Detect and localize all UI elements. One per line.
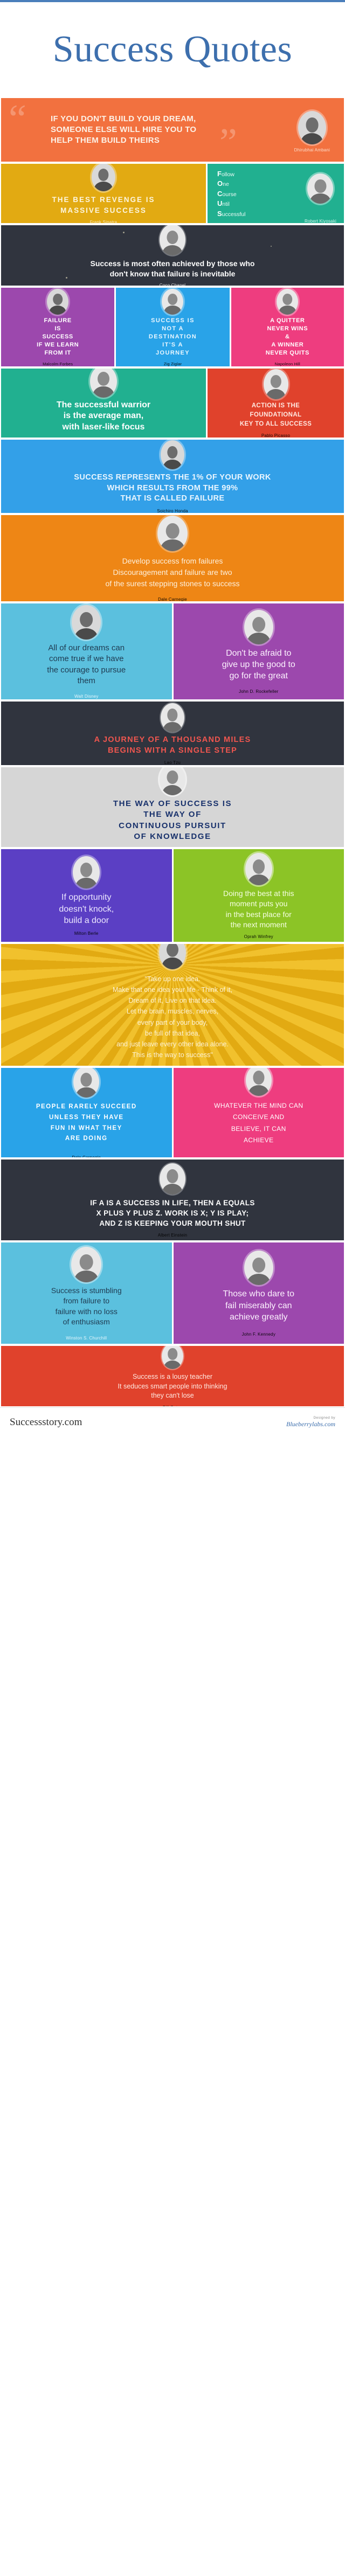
agency-name[interactable]: Blueberrylabs.com: [286, 1420, 335, 1428]
quote-text: The successful warrior is the average ma…: [57, 400, 150, 433]
quote-card-kennedy: Those who dare to fail miserably can ach…: [174, 1242, 344, 1344]
portrait-avatar-chanel: [160, 225, 185, 255]
portrait-avatar-napoleon-hill: [160, 767, 185, 795]
portrait-avatar-kennedy: [244, 1251, 273, 1285]
quote-author: Frank Sinatra: [90, 220, 118, 223]
quote-author: Albert Einstein: [158, 1233, 188, 1238]
acrostic-initial: S: [217, 210, 222, 218]
portrait-avatar-honda: [161, 440, 184, 469]
quote-text: PEOPLE RARELY SUCCEED UNLESS THEY HAVE F…: [36, 1102, 137, 1144]
quote-card-gates: Success is a lousy teacher It seduces sm…: [1, 1346, 344, 1406]
portrait-avatar-disney: [72, 605, 101, 640]
quote-author: Dale Carnegie: [158, 597, 187, 601]
quote-band-napoleon-knowledge: THE WAY OF SUCCESS IS THE WAY OF CONTINU…: [0, 766, 345, 848]
quote-text: Success is most often achieved by those …: [91, 259, 255, 278]
quote-text: Doing the best at this moment puts you i…: [223, 888, 294, 929]
portrait-avatar-berle: [73, 856, 100, 888]
quote-band-vivekananda: "Take up one idea. Make that one idea yo…: [0, 943, 345, 1067]
portrait-avatar-napoleon-hill: [246, 1068, 272, 1096]
quote-author: Malcolm Forbes: [43, 362, 73, 366]
quote-author: Napoleon Hill: [245, 1157, 272, 1157]
quote-band-berle-oprah: If opportunity doesn't knock, build a do…: [0, 848, 345, 943]
page-title: Success Quotes: [53, 31, 292, 68]
portrait-avatar-napoleon-hill: [277, 289, 298, 315]
quote-author: Walt Disney: [74, 694, 99, 699]
portrait-avatar-ambani: [298, 111, 326, 144]
quote-band-honda: SUCCESS REPRESENTS THE 1% OF YOUR WORK W…: [0, 439, 345, 514]
quote-card-honda: SUCCESS REPRESENTS THE 1% OF YOUR WORK W…: [1, 440, 344, 513]
quote-author: John F. Kennedy: [241, 1332, 275, 1337]
portrait-avatar-forbes: [47, 289, 68, 315]
quote-band-einstein: IF A IS A SUCCESS IN LIFE, THEN A EQUALS…: [0, 1158, 345, 1241]
designed-by-label: Designed by: [286, 1416, 335, 1420]
portrait-avatar-carnegie: [157, 516, 188, 551]
footer: Successstory.com Designed by Blueberryla…: [0, 1407, 345, 1436]
quote-card-kiyosaki: Follow One Course Until Successful Rober…: [208, 164, 344, 223]
quote-card-napoleon-conceive: WHATEVER THE MIND CAN CONCEIVE AND BELIE…: [174, 1068, 344, 1157]
quote-text: Success is a lousy teacher It seduces sm…: [118, 1372, 227, 1401]
quote-text: Follow One Course Until Successful: [217, 169, 245, 219]
portrait-avatar-gates: [162, 1346, 183, 1369]
quote-author: Lao Tzu: [164, 760, 181, 765]
acrostic-initial: F: [217, 170, 222, 178]
quote-card-bruce-lee: The successful warrior is the average ma…: [1, 369, 206, 438]
quote-card-ambani: “ ” IF YOU DON'T BUILD YOUR DREAM, SOMEO…: [1, 98, 344, 162]
quote-text: All of our dreams can come true if we ha…: [47, 643, 126, 686]
portrait-avatar-kiyosaki: [307, 173, 333, 204]
portrait-avatar-sinatra: [92, 164, 115, 191]
quote-band-gates: Success is a lousy teacher It seduces sm…: [0, 1345, 345, 1407]
quote-band-laotzu: A JOURNEY OF A THOUSAND MILES BEGINS WIT…: [0, 700, 345, 766]
quote-card-oprah: Doing the best at this moment puts you i…: [174, 849, 344, 942]
portrait-avatar-bruce-lee: [90, 369, 117, 398]
quote-author: Coco Chanel: [160, 283, 185, 286]
quote-band-carnegie-napoleon: PEOPLE RARELY SUCCEED UNLESS THEY HAVE F…: [0, 1067, 345, 1158]
quote-band-lee-picasso: The successful warrior is the average ma…: [0, 367, 345, 439]
quote-card-churchill: Success is stumbling from failure to fai…: [1, 1242, 172, 1344]
portrait-avatar-rockefeller: [244, 610, 273, 644]
portrait-avatar-picasso: [264, 369, 288, 399]
quote-card-napoleon-knowledge: THE WAY OF SUCCESS IS THE WAY OF CONTINU…: [1, 767, 344, 847]
credit-block: Designed by Blueberrylabs.com: [286, 1416, 335, 1428]
quote-author: John D. Rockefeller: [239, 689, 279, 694]
quote-text: Develop success from failures Discourage…: [105, 556, 239, 589]
quote-card-vivekananda: "Take up one idea. Make that one idea yo…: [1, 944, 344, 1066]
quote-card-laotzu: A JOURNEY OF A THOUSAND MILES BEGINS WIT…: [1, 702, 344, 765]
quote-card-chanel: Success is most often achieved by those …: [1, 225, 344, 286]
quote-band-churchill-kennedy: Success is stumbling from failure to fai…: [0, 1241, 345, 1345]
quote-text: If opportunity doesn't knock, build a do…: [59, 892, 114, 926]
quote-text: IF YOU DON'T BUILD YOUR DREAM, SOMEONE E…: [51, 114, 196, 145]
open-quote-icon: “: [9, 99, 26, 139]
quote-author: Bill Gates: [163, 1405, 182, 1406]
close-quote-icon: ”: [219, 123, 237, 162]
quote-author: Dale Carnegie: [72, 1155, 101, 1157]
quote-text: Don't be afraid to give up the good to g…: [222, 648, 295, 682]
quote-text: SUCCESS IS NOT A DESTINATION IT'S A JOUR…: [149, 317, 197, 358]
portrait-group: Dhirubhai Ambani: [294, 111, 330, 152]
quote-text: ACTION IS THE FOUNDATIONAL KEY TO ALL SU…: [240, 401, 312, 429]
portrait-avatar-oprah: [245, 853, 272, 885]
masthead: Success Quotes: [0, 2, 345, 97]
quote-author: Napoleon Hill: [159, 846, 186, 847]
quote-author: Oprah Winfrey: [244, 934, 273, 939]
quote-author: Dhirubhai Ambani: [294, 148, 330, 152]
acrostic-initial: U: [217, 199, 222, 207]
portrait-group: Robert Kiyosaki: [305, 173, 336, 223]
quote-band-carnegie-stepping: Develop success from failures Discourage…: [0, 514, 345, 602]
quote-author: Milton Berle: [74, 931, 99, 936]
quote-text: A JOURNEY OF A THOUSAND MILES BEGINS WIT…: [94, 734, 251, 756]
quote-card-sinatra: THE BEST REVENGE IS MASSIVE SUCCESS Fran…: [1, 164, 206, 223]
portrait-avatar-vivekananda: [159, 944, 186, 969]
quote-author: Soichiro Honda: [157, 509, 188, 513]
quote-text: Success is stumbling from failure to fai…: [51, 1286, 122, 1327]
quote-band-ambani: “ ” IF YOU DON'T BUILD YOUR DREAM, SOMEO…: [0, 97, 345, 163]
quote-card-forbes: FAILURE IS SUCCESS IF WE LEARN FROM IT M…: [1, 288, 114, 366]
acrostic-initial: O: [217, 179, 223, 188]
quote-card-rockefeller: Don't be afraid to give up the good to g…: [174, 603, 344, 699]
portrait-avatar-einstein: [160, 1163, 185, 1195]
quote-text: "Take up one idea. Make that one idea yo…: [113, 974, 232, 1061]
quote-band-disney-rockefeller: All of our dreams can come true if we ha…: [0, 602, 345, 700]
quote-card-carnegie-stepping: Develop success from failures Discourage…: [1, 515, 344, 601]
quote-author: Winston S. Churchill: [66, 1336, 107, 1341]
portrait-avatar-ziglar: [162, 289, 183, 315]
quote-card-ziglar: SUCCESS IS NOT A DESTINATION IT'S A JOUR…: [116, 288, 229, 366]
quote-card-berle: If opportunity doesn't knock, build a do…: [1, 849, 172, 942]
infographic-page: Success Quotes “ ” IF YOU DON'T BUILD YO…: [0, 0, 345, 1436]
quote-author: Bruce Lee: [93, 437, 114, 438]
acrostic-initial: C: [217, 190, 222, 198]
quote-text: FAILURE IS SUCCESS IF WE LEARN FROM IT: [37, 317, 79, 358]
quote-band-sinatra-kiyosaki: THE BEST REVENGE IS MASSIVE SUCCESS Fran…: [0, 163, 345, 224]
quote-band-chanel: Success is most often achieved by those …: [0, 224, 345, 287]
quote-text: THE BEST REVENGE IS MASSIVE SUCCESS: [52, 195, 155, 216]
quote-text: THE WAY OF SUCCESS IS THE WAY OF CONTINU…: [113, 799, 232, 842]
quote-card-napoleon-hill-quitter: A QUITTER NEVER WINS & A WINNER NEVER QU…: [231, 288, 344, 366]
quote-author: Napoleon Hill: [275, 362, 300, 366]
quote-card-picasso: ACTION IS THE FOUNDATIONAL KEY TO ALL SU…: [208, 369, 344, 438]
quote-text: IF A IS A SUCCESS IN LIFE, THEN A EQUALS…: [90, 1198, 255, 1228]
quote-band-trio: FAILURE IS SUCCESS IF WE LEARN FROM IT M…: [0, 287, 345, 367]
quote-text: A QUITTER NEVER WINS & A WINNER NEVER QU…: [266, 317, 309, 358]
portrait-avatar-carnegie: [73, 1068, 99, 1098]
quote-author: Pablo Picasso: [261, 433, 290, 438]
quote-author: Robert Kiyosaki: [305, 219, 336, 223]
quote-text: WHATEVER THE MIND CAN CONCEIVE AND BELIE…: [214, 1100, 303, 1146]
quote-card-carnegie-fun: PEOPLE RARELY SUCCEED UNLESS THEY HAVE F…: [1, 1068, 172, 1157]
portrait-avatar-churchill: [71, 1247, 101, 1282]
quote-text: Those who dare to fail miserably can ach…: [223, 1288, 294, 1323]
quote-author: Zig Ziglar: [164, 362, 182, 366]
quote-text: SUCCESS REPRESENTS THE 1% OF YOUR WORK W…: [74, 473, 271, 504]
quote-card-disney: All of our dreams can come true if we ha…: [1, 603, 172, 699]
site-name[interactable]: Successstory.com: [10, 1417, 82, 1428]
portrait-avatar-laotzu: [161, 703, 184, 732]
quote-card-einstein: IF A IS A SUCCESS IN LIFE, THEN A EQUALS…: [1, 1159, 344, 1240]
